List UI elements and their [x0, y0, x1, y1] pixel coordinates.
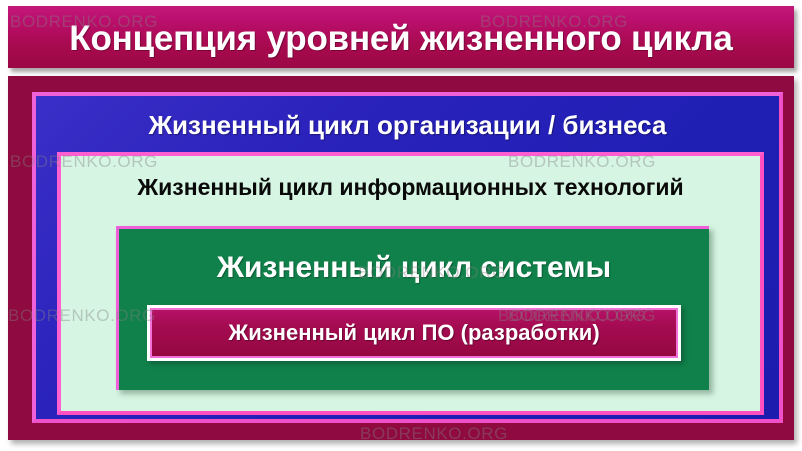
level-box-software[interactable]: Жизненный цикл ПО (разработки)	[147, 305, 681, 361]
level-label-information-technology: Жизненный цикл информационных технологий	[61, 174, 760, 201]
level-box-organization[interactable]: Жизненный цикл организации / бизнеса Жиз…	[32, 92, 783, 423]
level-label-system: Жизненный цикл системы	[119, 251, 709, 285]
level-box-information-technology[interactable]: Жизненный цикл информационных технологий…	[57, 152, 764, 415]
level-label-software: Жизненный цикл ПО (разработки)	[150, 320, 678, 346]
slide-title-banner: Концепция уровней жизненного цикла	[8, 6, 794, 68]
slide-canvas: Концепция уровней жизненного цикла Жизне…	[0, 0, 802, 451]
page-title: Концепция уровней жизненного цикла	[8, 6, 794, 68]
lifecycle-diagram-frame: Жизненный цикл организации / бизнеса Жиз…	[8, 76, 794, 440]
level-box-system[interactable]: Жизненный цикл системы Жизненный цикл ПО…	[116, 226, 709, 390]
level-label-organization: Жизненный цикл организации / бизнеса	[36, 110, 779, 141]
